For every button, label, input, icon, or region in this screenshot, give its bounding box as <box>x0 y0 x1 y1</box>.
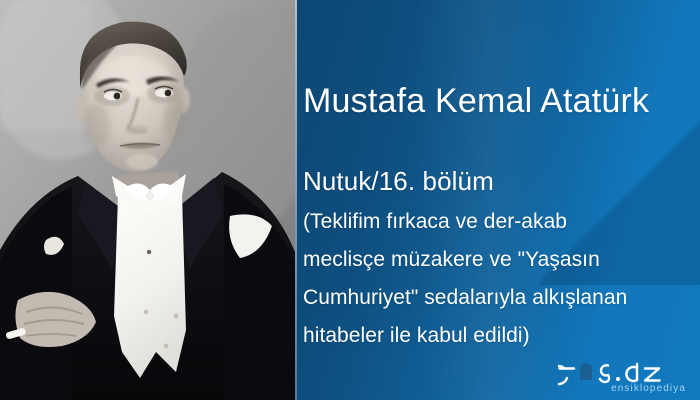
site-logo-graphic: ensiklopediya <box>558 350 688 394</box>
portrait-photo-image <box>0 0 295 400</box>
site-logo[interactable]: ensiklopediya <box>558 350 688 394</box>
body-text: (Teklifim fırkaca ve der-akab meclisçe m… <box>303 203 700 355</box>
text-panel: Mustafa Kemal Atatürk Nutuk/16. bölüm (T… <box>295 0 700 400</box>
panel-seam <box>295 0 297 400</box>
page-subtitle: Nutuk/16. bölüm <box>303 166 494 197</box>
body-text-line: meclisçe müzakere ve "Yaşasın <box>303 241 700 279</box>
text-stack: Mustafa Kemal Atatürk Nutuk/16. bölüm (T… <box>303 0 700 400</box>
site-logo-tagline: ensiklopediya <box>611 383 686 394</box>
portrait-photo <box>0 0 295 400</box>
page-title: Mustafa Kemal Atatürk <box>303 82 649 121</box>
article-banner: Mustafa Kemal Atatürk Nutuk/16. bölüm (T… <box>0 0 700 400</box>
body-text-line: (Teklifim fırkaca ve der-akab <box>303 203 700 241</box>
body-text-line: Cumhuriyet" sedalarıyla alkışlanan <box>303 279 700 317</box>
